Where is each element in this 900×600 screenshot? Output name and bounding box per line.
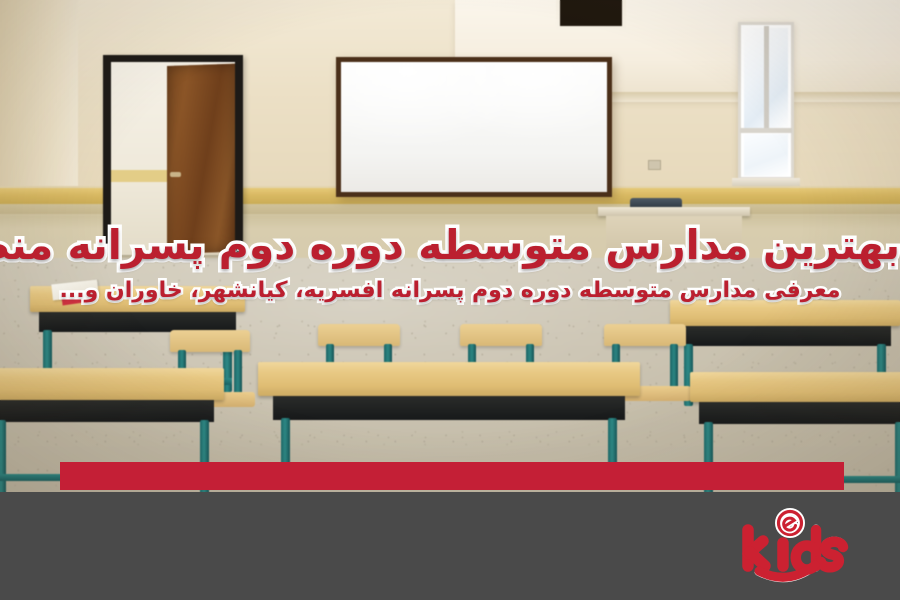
desk-top bbox=[0, 368, 224, 400]
chair-back bbox=[318, 324, 400, 346]
desk-shelf bbox=[273, 396, 624, 420]
desk-shelf bbox=[0, 400, 214, 422]
wall-left-edge bbox=[0, 0, 78, 205]
door-handle bbox=[170, 172, 181, 177]
desk-top bbox=[670, 300, 900, 326]
chair-post bbox=[234, 350, 242, 396]
classroom-photo bbox=[0, 0, 900, 492]
desk-shelf bbox=[679, 326, 891, 346]
wall-socket bbox=[648, 160, 661, 170]
window-sash bbox=[764, 26, 769, 130]
chair-back bbox=[604, 324, 686, 346]
desk-shelf bbox=[39, 312, 237, 332]
logo-e-mark bbox=[779, 512, 802, 535]
chair-back bbox=[170, 330, 250, 352]
footer-bar: .lo-stroke { fill:none; stroke:#ffffff; … bbox=[0, 492, 900, 600]
promo-banner: بهترین مدارس متوسطه دوره دوم پسرانه منطق… bbox=[0, 0, 900, 600]
desk-shelf bbox=[699, 402, 900, 424]
window-glass-lower bbox=[744, 134, 788, 176]
window-sill bbox=[732, 178, 800, 186]
corridor-wall bbox=[111, 62, 171, 255]
door-panel bbox=[167, 64, 235, 254]
chair-back bbox=[460, 324, 542, 346]
ceiling-vent bbox=[556, 0, 626, 30]
desk-top bbox=[690, 372, 900, 402]
teacher-desk-top bbox=[598, 207, 750, 216]
teacher-desk-body bbox=[606, 216, 742, 260]
whiteboard-surface bbox=[341, 62, 607, 192]
accent-bar bbox=[60, 462, 844, 490]
desk-top bbox=[258, 362, 640, 396]
chair-post bbox=[670, 344, 678, 390]
ekids-logo[interactable]: .lo-stroke { fill:none; stroke:#ffffff; … bbox=[734, 506, 854, 584]
desk-leg bbox=[0, 420, 6, 492]
window-transom bbox=[740, 128, 792, 133]
